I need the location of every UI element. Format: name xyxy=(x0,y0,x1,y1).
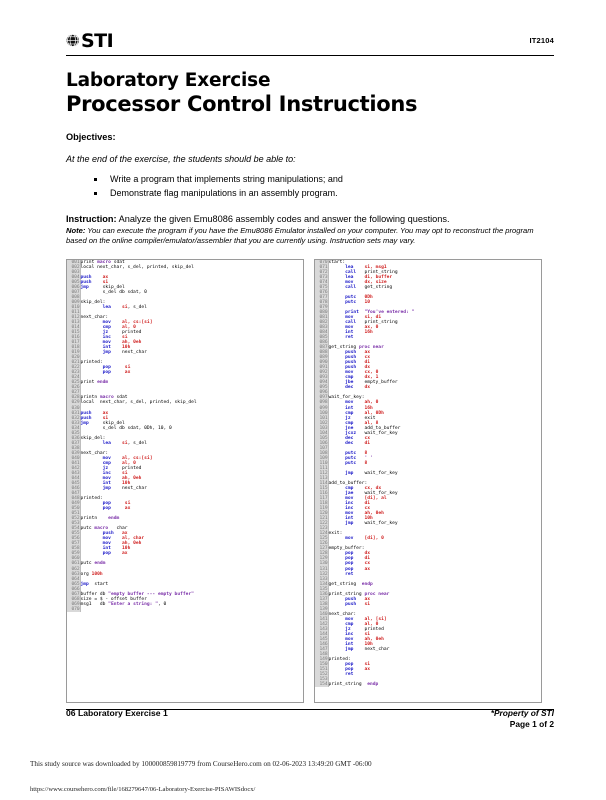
code-table-left: 001print macro sdat002local next_char, s… xyxy=(67,260,303,612)
code-text xyxy=(80,607,303,612)
line-number: 070 xyxy=(67,607,80,612)
footer-right: *Property of STI Page 1 of 2 xyxy=(491,708,554,730)
sti-logo: STI xyxy=(66,30,113,52)
note-label: Note: xyxy=(66,226,85,235)
code-listing: 001print macro sdat002local next_char, s… xyxy=(66,259,554,703)
coursehero-download-notice: This study source was downloaded by 1000… xyxy=(30,760,372,768)
coursehero-url[interactable]: https://www.coursehero.com/file/16827964… xyxy=(30,786,255,793)
page-title-line2: Processor Control Instructions xyxy=(66,92,554,116)
list-item: Demonstrate flag manipulations in an ass… xyxy=(110,187,554,201)
objectives-heading: Objectives: xyxy=(66,132,554,142)
instruction-label: Instruction: xyxy=(66,214,117,224)
page-sheet: STI IT2104 Laboratory Exercise Processor… xyxy=(42,22,564,734)
line-number: 154 xyxy=(315,682,328,687)
document-page: STI IT2104 Laboratory Exercise Processor… xyxy=(0,0,606,800)
page-footer: 06 Laboratory Exercise 1 *Property of ST… xyxy=(66,708,554,730)
footer-property: *Property of STI xyxy=(491,708,554,719)
code-panel-left: 001print macro sdat002local next_char, s… xyxy=(66,259,304,703)
list-item-label: Demonstrate flag manipulations in an ass… xyxy=(110,188,338,198)
sti-globe-icon xyxy=(66,33,81,50)
bullet-square-icon xyxy=(94,178,97,181)
instruction-paragraph: Instruction: Analyze the given Emu8086 a… xyxy=(66,214,554,224)
list-item-label: Write a program that implements string m… xyxy=(110,174,343,184)
code-panel-right: 070start:071 lea si, msg1072 call print_… xyxy=(314,259,542,703)
footer-page-number: Page 1 of 2 xyxy=(491,719,554,730)
code-line: 154print_string endp xyxy=(315,682,541,687)
sti-logo-text: STI xyxy=(81,33,113,50)
page-header: STI IT2104 xyxy=(42,22,564,56)
note-text: You can execute the program if you have … xyxy=(66,226,534,245)
code-text: print_string endp xyxy=(328,682,541,687)
note-paragraph: Note: You can execute the program if you… xyxy=(66,226,554,247)
code-table-right: 070start:071 lea si, msg1072 call print_… xyxy=(315,260,541,688)
header-divider xyxy=(66,55,554,56)
objectives-lead: At the end of the exercise, the students… xyxy=(66,154,554,164)
footer-exercise-title: 06 Laboratory Exercise 1 xyxy=(66,708,168,718)
instruction-text: Analyze the given Emu8086 assembly codes… xyxy=(117,214,450,224)
objectives-list: Write a program that implements string m… xyxy=(66,173,554,200)
code-line: 070 xyxy=(67,607,303,612)
document-body: Laboratory Exercise Processor Control In… xyxy=(42,70,564,703)
list-item: Write a program that implements string m… xyxy=(110,173,554,187)
bullet-square-icon xyxy=(94,192,97,195)
page-title-line1: Laboratory Exercise xyxy=(66,70,554,91)
course-code: IT2104 xyxy=(529,36,554,45)
